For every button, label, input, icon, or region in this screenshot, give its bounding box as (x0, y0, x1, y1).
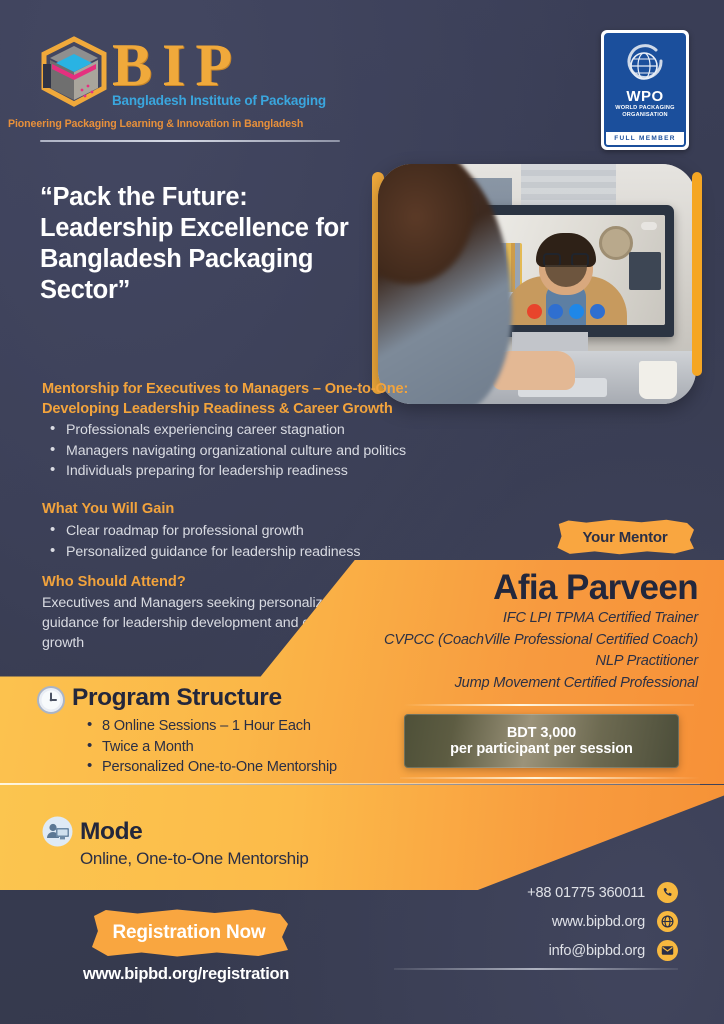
header-divider (40, 140, 340, 142)
phone-icon (657, 882, 678, 903)
your-mentor-badge: Your Mentor (556, 519, 694, 555)
wpo-full-name: WORLD PACKAGING ORGANISATION (606, 105, 684, 119)
credential-line: CVPCC (CoachVille Professional Certified… (228, 630, 698, 652)
contact-row-phone[interactable]: +88 01775 360011 (468, 878, 678, 907)
hero-image (378, 164, 696, 404)
list-item: Personalized One-to-One Mentorship (86, 757, 416, 778)
hero-accent-right (692, 172, 702, 376)
logo-letters: BIP (112, 34, 374, 96)
credential-line: NLP Practitioner (228, 651, 698, 673)
online-meeting-icon (42, 816, 73, 847)
price-box: BDT 3,000 per participant per session (404, 714, 679, 768)
envelope-icon (657, 940, 678, 961)
list-item: Twice a Month (86, 737, 416, 758)
price-divider-bottom (400, 777, 700, 779)
contact-phone-text: +88 01775 360011 (527, 885, 645, 901)
globe-icon (657, 911, 678, 932)
list-item: Managers navigating organizational cultu… (48, 441, 518, 462)
credential-line: Jump Movement Certified Professional (228, 673, 698, 695)
bip-logo: BIP Bangladesh Institute of Packaging Pi… (40, 34, 340, 139)
mentorship-heading: Mentorship for Executives to Managers – … (42, 380, 512, 419)
logo-wordmark: BIP Bangladesh Institute of Packaging (112, 34, 374, 108)
contact-website-text: www.bipbd.org (552, 914, 645, 930)
mentor-credentials: IFC LPI TPMA Certified Trainer CVPCC (Co… (228, 608, 698, 694)
contact-row-email[interactable]: info@bipbd.org (468, 936, 678, 965)
list-item: Professionals experiencing career stagna… (48, 420, 518, 441)
program-structure-list: 8 Online Sessions – 1 Hour Each Twice a … (86, 716, 416, 778)
list-item: Personalized guidance for leadership rea… (48, 542, 478, 563)
mentorship-list: Professionals experiencing career stagna… (48, 420, 518, 482)
registration-label: Registration Now (90, 908, 288, 958)
program-structure-title: Program Structure (72, 684, 282, 712)
attend-heading: Who Should Attend? (42, 574, 186, 590)
list-item: Clear roadmap for professional growth (48, 521, 478, 542)
price-amount: BDT 3,000 (507, 725, 576, 741)
contact-divider (394, 968, 678, 970)
registration-url[interactable]: www.bipbd.org/registration (83, 965, 289, 984)
credential-line: IFC LPI TPMA Certified Trainer (228, 608, 698, 630)
wpo-acronym: WPO (626, 88, 663, 105)
poster-root: BIP Bangladesh Institute of Packaging Pi… (0, 0, 724, 1024)
mode-title: Mode (80, 818, 142, 846)
wpo-badge: WPO WORLD PACKAGING ORGANISATION FULL ME… (601, 30, 689, 150)
list-item: Individuals preparing for leadership rea… (48, 461, 518, 482)
gain-list: Clear roadmap for professional growth Pe… (48, 521, 478, 562)
registration-now-button[interactable]: Registration Now (90, 908, 288, 958)
clock-icon (36, 685, 66, 715)
globe-icon (622, 41, 668, 87)
contact-email-text: info@bipbd.org (549, 943, 645, 959)
mentor-name: Afia Parveen (238, 568, 698, 608)
packaging-box-icon (40, 36, 108, 108)
wpo-membership: FULL MEMBER (606, 131, 684, 145)
poster-header: BIP Bangladesh Institute of Packaging Pi… (0, 0, 724, 160)
price-unit: per participant per session (450, 741, 633, 757)
contact-block: +88 01775 360011 www.bipbd.org info@bipb… (468, 878, 678, 965)
price-divider-top (404, 704, 694, 706)
contact-row-website[interactable]: www.bipbd.org (468, 907, 678, 936)
gain-heading: What You Will Gain (42, 501, 174, 517)
your-mentor-label: Your Mentor (556, 519, 694, 555)
mode-value: Online, One-to-One Mentorship (80, 849, 308, 869)
mode-divider (0, 783, 700, 785)
logo-full-name: Bangladesh Institute of Packaging (112, 93, 374, 108)
logo-tagline: Pioneering Packaging Learning & Innovati… (8, 118, 303, 130)
list-item: 8 Online Sessions – 1 Hour Each (86, 716, 416, 737)
page-title: “Pack the Future: Leadership Excellence … (40, 182, 370, 306)
